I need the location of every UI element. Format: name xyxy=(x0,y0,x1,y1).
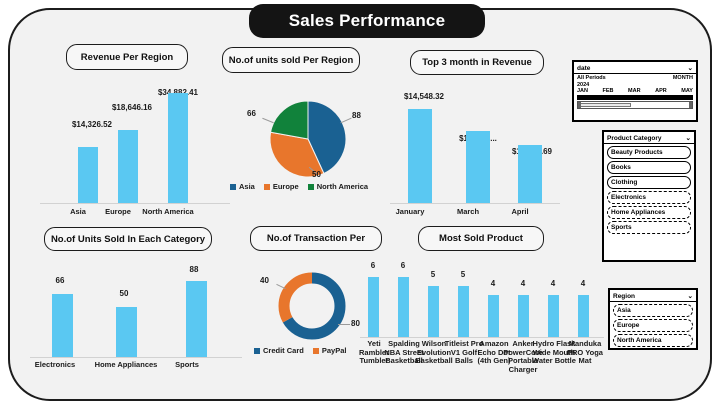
bar[interactable] xyxy=(116,307,137,357)
panel-title-most-sold-product: Most Sold Product xyxy=(418,226,544,251)
bar[interactable] xyxy=(466,131,490,203)
panel-title-text: Most Sold Product xyxy=(439,233,523,244)
dashboard-canvas: Sales Performance Revenue Per Region No.… xyxy=(0,0,720,409)
bar[interactable] xyxy=(428,286,439,337)
slicer-date-range-slider[interactable] xyxy=(577,101,693,109)
slicer-date-timeline[interactable] xyxy=(577,95,693,100)
bar-value-label: 5 xyxy=(420,270,446,279)
bar-value-label: 88 xyxy=(170,265,218,274)
chart-units-per-region[interactable]: 88 50 66 Asia Europe North America xyxy=(236,98,380,198)
axis-line xyxy=(30,357,242,358)
slicer-date-grain: MONTH xyxy=(673,75,693,81)
month-may[interactable]: MAY xyxy=(681,88,693,94)
bar[interactable] xyxy=(408,109,432,203)
bar-value-label: $14,326.52 xyxy=(52,120,132,129)
bar-value-label: 50 xyxy=(100,289,148,298)
month-feb[interactable]: FEB xyxy=(603,88,614,94)
slicer-region[interactable]: Region ⌄ Asia Europe North America xyxy=(608,288,698,350)
slicer-product-category-title: Product Category xyxy=(607,135,662,142)
month-jan[interactable]: JAN xyxy=(577,88,588,94)
legend-item-asia[interactable]: Asia xyxy=(230,182,255,191)
bar-value-label: 66 xyxy=(36,276,84,285)
axis-line xyxy=(40,203,230,204)
slicer-date-period: All Periods xyxy=(577,75,606,81)
donut-value-label-paypal: 40 xyxy=(260,276,269,285)
category-label: North America xyxy=(132,208,204,217)
legend-label: Europe xyxy=(273,182,299,191)
pie-value-label-europe: 50 xyxy=(312,170,321,179)
legend-label: PayPal xyxy=(322,346,347,355)
filter-icon[interactable]: ⌄ xyxy=(686,134,691,142)
filter-icon[interactable]: ⌄ xyxy=(688,64,693,72)
slicer-option-electronics[interactable]: Electronics xyxy=(607,191,691,204)
category-label: Home Appliances xyxy=(86,361,166,370)
bar-value-label: 4 xyxy=(510,279,536,288)
slicer-product-category[interactable]: Product Category ⌄ Beauty Products Books… xyxy=(602,130,696,262)
panel-title-revenue-per-region: Revenue Per Region xyxy=(66,44,188,70)
slicer-date-title: date xyxy=(577,65,590,72)
page-title-text: Sales Performance xyxy=(289,11,445,31)
panel-title-units-per-category: No.of Units Sold In Each Category xyxy=(44,227,212,251)
panel-title-text: No.of Units Sold In Each Category xyxy=(51,234,205,245)
bar[interactable] xyxy=(518,295,529,337)
panel-title-text: Revenue Per Region xyxy=(81,52,173,63)
slicer-region-title: Region xyxy=(613,293,635,300)
bar[interactable] xyxy=(78,147,98,203)
bar[interactable] xyxy=(488,295,499,337)
slicer-date[interactable]: date ⌄ All Periods MONTH 2024 JAN FEB MA… xyxy=(572,60,698,122)
chart-units-per-category[interactable]: 66 50 88 xyxy=(30,268,242,358)
bar[interactable] xyxy=(118,130,138,203)
panel-title-top3-month: Top 3 month in Revenue xyxy=(410,50,544,75)
panel-title-text: No.of units sold Per Region xyxy=(229,55,354,66)
slicer-option-asia[interactable]: Asia xyxy=(613,304,693,317)
legend-units-per-region: Asia Europe North America xyxy=(230,182,368,191)
slider-handle-left[interactable] xyxy=(578,102,581,108)
category-label: Manduka PRO Yoga Mat xyxy=(562,340,608,366)
legend-label: North America xyxy=(317,182,368,191)
slicer-product-category-header: Product Category ⌄ xyxy=(604,132,694,144)
legend-item-north-america[interactable]: North America xyxy=(308,182,368,191)
bar[interactable] xyxy=(518,145,542,203)
slicer-option-clothing[interactable]: Clothing xyxy=(607,176,691,189)
slider-handle-right[interactable] xyxy=(689,102,692,108)
page-title: Sales Performance xyxy=(249,4,485,38)
donut-chart-transactions[interactable] xyxy=(252,268,372,344)
bar[interactable] xyxy=(186,281,207,357)
donut-value-label-credit-card: 80 xyxy=(351,319,360,328)
pie-slice-north-america[interactable] xyxy=(271,101,308,139)
axis-line xyxy=(390,203,560,204)
bar[interactable] xyxy=(52,294,73,357)
slicer-date-period-row: All Periods MONTH xyxy=(574,74,696,81)
legend-item-europe[interactable]: Europe xyxy=(264,182,299,191)
legend-label: Asia xyxy=(239,182,255,191)
slicer-option-north-america[interactable]: North America xyxy=(613,334,693,347)
legend-transactions: Credit Card PayPal xyxy=(254,346,346,355)
category-label: Sports xyxy=(158,361,216,370)
panel-title-text: No.of Transaction Per xyxy=(267,233,365,244)
filter-icon[interactable]: ⌄ xyxy=(688,292,693,300)
bar-value-label: $18,646.16 xyxy=(92,103,172,112)
legend-item-paypal[interactable]: PayPal xyxy=(313,346,347,355)
chart-most-sold-product[interactable]: 6 6 5 5 4 4 4 4 xyxy=(360,262,604,338)
slicer-region-header: Region ⌄ xyxy=(610,290,696,302)
legend-label: Credit Card xyxy=(263,346,304,355)
pie-value-label-asia: 88 xyxy=(352,111,361,120)
month-mar[interactable]: MAR xyxy=(628,88,641,94)
slicer-option-beauty-products[interactable]: Beauty Products xyxy=(607,146,691,159)
slicer-option-home-appliances[interactable]: Home Appliances xyxy=(607,206,691,219)
bar[interactable] xyxy=(398,277,409,337)
slicer-option-sports[interactable]: Sports xyxy=(607,221,691,234)
chart-top3-month[interactable]: $14,548.32 $12,849.... $12,451.69 xyxy=(390,92,560,204)
panel-title-text: Top 3 month in Revenue xyxy=(422,57,532,68)
axis-line xyxy=(360,337,604,338)
bar-value-label: 4 xyxy=(540,279,566,288)
bar-value-label: 4 xyxy=(570,279,596,288)
bar-value-label: 6 xyxy=(360,261,386,270)
slicer-date-header: date ⌄ xyxy=(574,62,696,74)
slicer-date-months: JAN FEB MAR APR MAY xyxy=(574,88,696,94)
slider-fill xyxy=(579,103,631,107)
bar-value-label: 5 xyxy=(450,270,476,279)
slicer-option-books[interactable]: Books xyxy=(607,161,691,174)
slicer-option-europe[interactable]: Europe xyxy=(613,319,693,332)
bar[interactable] xyxy=(548,295,559,337)
category-label: April xyxy=(488,208,552,217)
pie-value-label-north-america: 66 xyxy=(247,109,256,118)
category-label: January xyxy=(378,208,442,217)
legend-item-credit-card[interactable]: Credit Card xyxy=(254,346,304,355)
bar-value-label: 4 xyxy=(480,279,506,288)
bar[interactable] xyxy=(578,295,589,337)
bar-value-label: $14,548.32 xyxy=(384,92,464,101)
chart-revenue-per-region[interactable]: $14,326.52 $18,646.16 $34,882.41 xyxy=(40,92,230,204)
leader-line xyxy=(338,324,350,325)
panel-title-transactions-per: No.of Transaction Per xyxy=(250,226,382,251)
bar[interactable] xyxy=(368,277,379,337)
bar[interactable] xyxy=(168,93,188,203)
panel-title-units-per-region: No.of units sold Per Region xyxy=(222,47,360,73)
month-apr[interactable]: APR xyxy=(655,88,667,94)
slicer-date-year-row: 2024 xyxy=(574,81,696,88)
bar[interactable] xyxy=(458,286,469,337)
category-label: Electronics xyxy=(26,361,84,370)
bar-value-label: 6 xyxy=(390,261,416,270)
